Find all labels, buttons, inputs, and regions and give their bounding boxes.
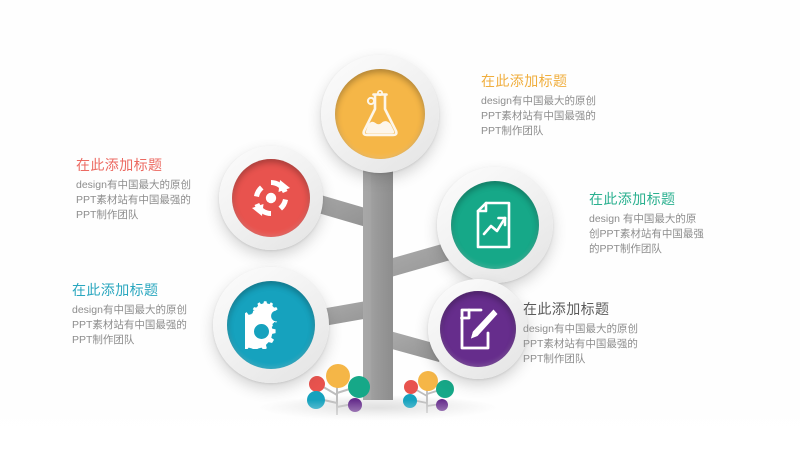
edit-document-icon — [457, 307, 499, 351]
text-green-line3: 的PPT制作团队 — [589, 242, 764, 257]
text-cyan-line1: design有中国最大的原创 — [72, 303, 237, 318]
flower-dot-red — [309, 376, 325, 392]
flower-dot-cyan — [307, 391, 325, 409]
text-purple-line1: design有中国最大的原创 — [523, 322, 693, 337]
trunk-highlight — [363, 140, 371, 400]
node-edit-disc[interactable] — [440, 291, 516, 367]
refresh-center-dot — [266, 193, 276, 203]
flask-bubble-small — [378, 91, 382, 95]
text-green-line2: 创PPT素材站有中国最强 — [589, 227, 764, 242]
text-purple-body: design有中国最大的原创 PPT素材站有中国最强的 PPT制作团队 — [523, 322, 693, 367]
chart-document-icon — [473, 200, 517, 250]
text-block-purple: 在此添加标题 design有中国最大的原创 PPT素材站有中国最强的 PPT制作… — [523, 300, 693, 367]
text-green-line1: design 有中国最大的原 — [589, 212, 764, 227]
flower-dot-orange — [326, 364, 350, 388]
flower-left — [298, 363, 376, 415]
text-orange-body: design有中国最大的原创 PPT素材站有中国最强的 PPT制作团队 — [481, 94, 641, 139]
text-red-body: design有中国最大的原创 PPT素材站有中国最强的 PPT制作团队 — [76, 178, 236, 223]
text-orange-line3: PPT制作团队 — [481, 124, 641, 139]
text-orange-line2: PPT素材站有中国最强的 — [481, 109, 641, 124]
infographic-slide: 在此添加标题 design有中国最大的原创 PPT素材站有中国最强的 PPT制作… — [0, 0, 800, 450]
flask-liquid — [366, 121, 395, 133]
flask-bubble-large — [368, 98, 374, 104]
flower-dot-purple — [436, 399, 448, 411]
text-purple-line3: PPT制作团队 — [523, 352, 693, 367]
flask-icon — [357, 89, 403, 139]
node-gears-disc[interactable] — [227, 281, 315, 369]
text-red-line1: design有中国最大的原创 — [76, 178, 236, 193]
text-red-line3: PPT制作团队 — [76, 208, 236, 223]
node-report[interactable] — [437, 167, 553, 283]
text-block-red: 在此添加标题 design有中国最大的原创 PPT素材站有中国最强的 PPT制作… — [76, 156, 236, 223]
text-block-orange: 在此添加标题 design有中国最大的原创 PPT素材站有中国最强的 PPT制作… — [481, 72, 641, 139]
text-orange-title: 在此添加标题 — [481, 72, 641, 91]
refresh-cycle-icon — [249, 176, 293, 220]
flower-right — [396, 369, 460, 413]
text-block-green: 在此添加标题 design 有中国最大的原 创PPT素材站有中国最强 的PPT制… — [589, 190, 764, 257]
text-green-title: 在此添加标题 — [589, 190, 764, 209]
text-cyan-line2: PPT素材站有中国最强的 — [72, 318, 237, 333]
node-refresh-disc[interactable] — [232, 159, 310, 237]
text-cyan-title: 在此添加标题 — [72, 281, 237, 300]
node-report-disc[interactable] — [451, 181, 539, 269]
text-green-body: design 有中国最大的原 创PPT素材站有中国最强 的PPT制作团队 — [589, 212, 764, 257]
flower-dot-purple — [348, 398, 362, 412]
node-flask[interactable] — [321, 55, 439, 173]
refresh-arc-left — [254, 186, 264, 198]
text-cyan-body: design有中国最大的原创 PPT素材站有中国最强的 PPT制作团队 — [72, 303, 237, 348]
text-block-cyan: 在此添加标题 design有中国最大的原创 PPT素材站有中国最强的 PPT制作… — [72, 281, 237, 348]
text-purple-title: 在此添加标题 — [523, 300, 693, 319]
node-edit[interactable] — [428, 279, 528, 379]
text-orange-line1: design有中国最大的原创 — [481, 94, 641, 109]
text-red-line2: PPT素材站有中国最强的 — [76, 193, 236, 208]
flower-dot-green — [436, 380, 454, 398]
gears-icon — [245, 301, 297, 349]
flower-dot-cyan — [403, 394, 417, 408]
flower-dot-orange — [418, 371, 438, 391]
flower-dot-red — [404, 380, 418, 394]
text-red-title: 在此添加标题 — [76, 156, 236, 175]
text-purple-line2: PPT素材站有中国最强的 — [523, 337, 693, 352]
node-flask-disc[interactable] — [335, 69, 425, 159]
refresh-arc-right — [279, 199, 289, 211]
text-cyan-line3: PPT制作团队 — [72, 333, 237, 348]
flower-dot-green — [348, 376, 370, 398]
